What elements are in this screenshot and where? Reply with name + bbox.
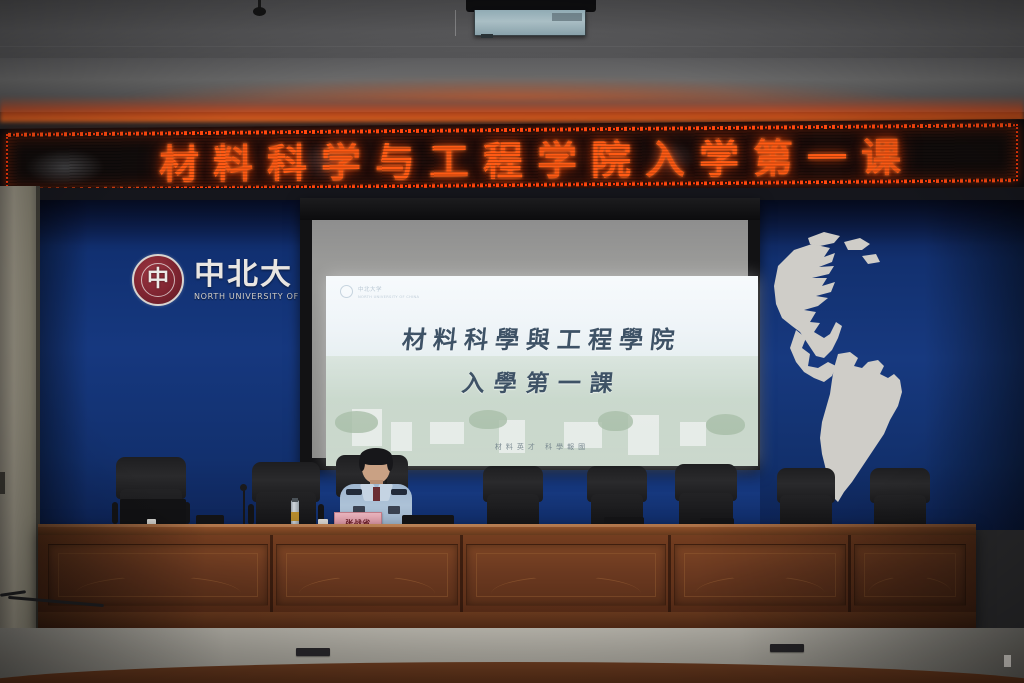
table-top-highlight: [38, 524, 976, 527]
led-banner: 材料科学与工程学院入学第一课: [0, 119, 1024, 197]
screen-surface: 中北大学 NORTH UNIVERSITY OF CHINA 材料科學與工程學院…: [312, 220, 748, 458]
screen-valance: [300, 198, 760, 220]
chair: [777, 468, 835, 526]
table-seam: [848, 535, 851, 613]
chair: [675, 464, 737, 526]
slide-logo-en: NORTH UNIVERSITY OF CHINA: [358, 295, 419, 299]
desk-microphone-stem: [243, 488, 245, 524]
auditorium-scene: 材料科学与工程学院入学第一课 中 中北大 NORTH UNIVERSITY OF: [0, 0, 1024, 683]
wall-column-left: [0, 186, 40, 656]
speaker-hair-right: [387, 455, 393, 471]
university-name-cn: 中北大: [194, 259, 299, 290]
chair-seat: [874, 495, 927, 526]
chair-arm-left: [112, 502, 118, 524]
projector-lens: [481, 34, 493, 38]
table-panel: [276, 544, 458, 606]
slide-logo-mark-icon: [340, 285, 353, 298]
desk-microphone-icon: [240, 484, 247, 491]
americas-map-graphic: [772, 226, 952, 508]
table-panel: [674, 544, 846, 606]
wall-outlet: [0, 472, 5, 494]
university-name-block: 中北大 NORTH UNIVERSITY OF: [194, 259, 299, 301]
chair: [870, 468, 930, 526]
slide-logo-cn: 中北大学: [358, 285, 419, 293]
chair-seat: [487, 494, 540, 526]
led-banner-text: 材料科学与工程学院入学第一课: [8, 126, 1016, 189]
chair: [252, 462, 320, 528]
slide-title-block: 材料科學與工程學院 入學第一課: [326, 320, 758, 398]
chair-seat: [256, 492, 316, 528]
table-panel: [48, 544, 268, 606]
table-seam: [270, 535, 273, 613]
table-seam: [668, 535, 671, 613]
epaulette-left: [346, 489, 362, 495]
projection-screen: 中北大学 NORTH UNIVERSITY OF CHINA 材料科學與工程學院…: [300, 198, 760, 470]
floor-marker: [1004, 655, 1011, 667]
university-logo: 中 中北大 NORTH UNIVERSITY OF: [132, 246, 312, 314]
chair-arm-left: [248, 504, 254, 525]
table-seam: [460, 535, 463, 613]
uniform-tie: [373, 487, 380, 501]
seal-glyph: 中: [134, 256, 182, 304]
table-panel: [854, 544, 966, 606]
sprinkler-icon: [253, 7, 266, 16]
speaker-hair-left: [359, 455, 365, 471]
ceiling-cable: [455, 10, 456, 36]
water-bottle-cap: [292, 498, 298, 502]
table-panel: [466, 544, 666, 606]
slide-title-line1: 材料科學與工程學院: [326, 320, 758, 355]
presentation-slide: 中北大学 NORTH UNIVERSITY OF CHINA 材料科學與工程學院…: [326, 276, 758, 466]
university-seal-icon: 中: [132, 254, 184, 306]
epaulette-right: [391, 489, 407, 495]
backdrop-shadow-left: [38, 200, 88, 530]
slide-logo-text: 中北大学 NORTH UNIVERSITY OF CHINA: [358, 285, 419, 299]
uniform-pocket-right: [388, 506, 400, 514]
chair-seat: [780, 495, 831, 526]
water-bottle-label: [291, 512, 299, 521]
ceiling-seam: [0, 46, 1024, 47]
slide-title-line2: 入學第一課: [326, 364, 758, 398]
led-ceiling-glow: [0, 96, 1024, 122]
university-name-en: NORTH UNIVERSITY OF: [194, 292, 299, 301]
slide-university-logo: 中北大学 NORTH UNIVERSITY OF CHINA: [340, 285, 419, 299]
projector-vent: [552, 13, 582, 21]
chair: [483, 466, 543, 526]
led-banner-panel: 材料科学与工程学院入学第一课: [6, 124, 1018, 191]
